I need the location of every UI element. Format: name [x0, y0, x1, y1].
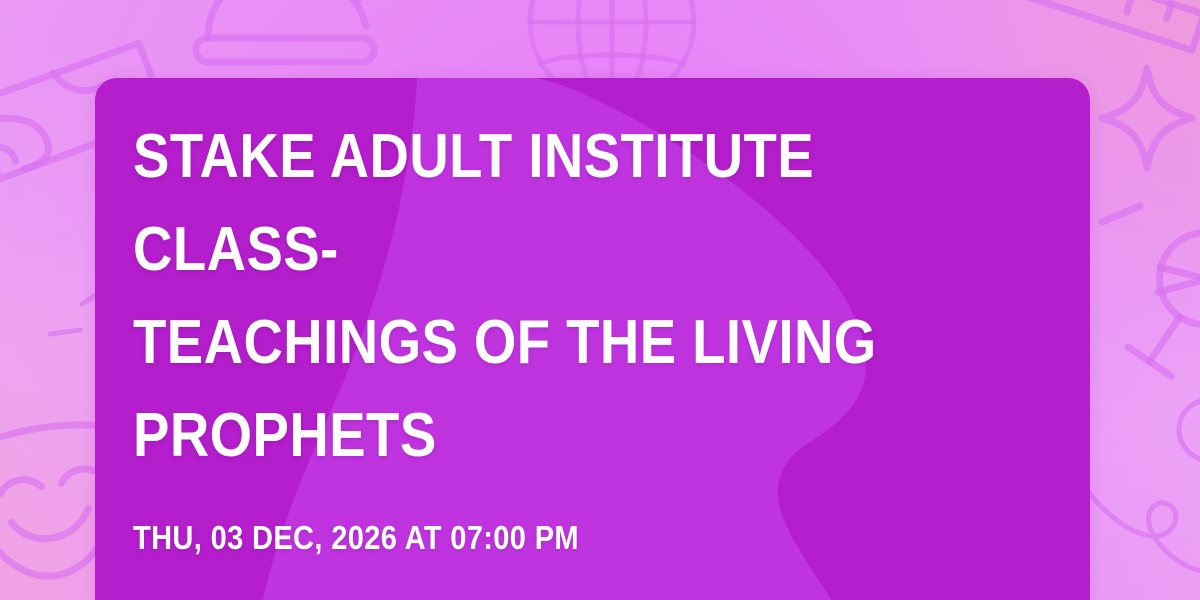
event-poster: STAKE ADULT INSTITUTE CLASS- TEACHINGS O…: [0, 0, 1200, 600]
page-title: STAKE ADULT INSTITUTE CLASS- TEACHINGS O…: [133, 110, 940, 482]
card-content: STAKE ADULT INSTITUTE CLASS- TEACHINGS O…: [95, 78, 1090, 600]
event-datetime: THU, 03 DEC, 2026 AT 07:00 PM: [133, 518, 940, 558]
sparkle-icon: [1092, 58, 1200, 178]
event-card: STAKE ADULT INSTITUTE CLASS- TEACHINGS O…: [95, 78, 1090, 600]
spiral-icon: [1126, 370, 1200, 520]
